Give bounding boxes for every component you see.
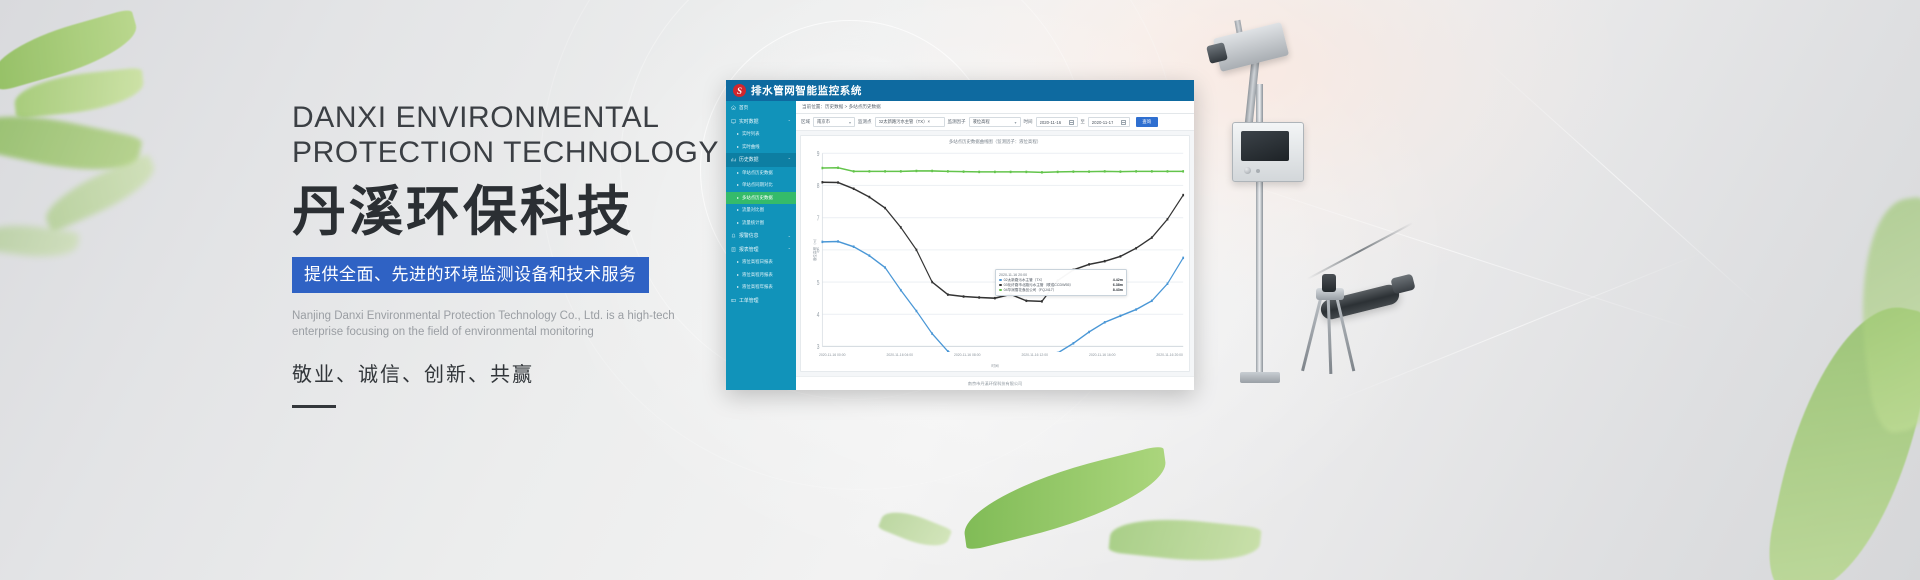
x-tick-label: 2020-11-16 20:00: [1156, 353, 1183, 357]
leaf-decoration: [0, 8, 143, 92]
factor-label: 监测因子: [948, 119, 966, 125]
date-range-separator: 至: [1081, 119, 1085, 125]
sidebar-item-monthly-report[interactable]: 液位高程月报表: [726, 269, 796, 282]
danxi-logo-icon: [733, 84, 746, 97]
chevron-up-icon: ⌃: [788, 157, 791, 162]
bullet-icon: [737, 274, 739, 276]
tooltip-series-name: 04华润雪花食品公司（FQJ417）: [1004, 288, 1057, 293]
hero-description: Nanjing Danxi Environmental Protection T…: [292, 308, 684, 340]
sidebar-item-realtime-list[interactable]: 实时列表: [726, 128, 796, 141]
tooltip-row: 04华润雪花食品公司（FQJ417） 8.43m: [999, 288, 1123, 293]
bullet-icon: [737, 261, 739, 263]
hero-chinese-title: 丹溪环保科技: [292, 180, 722, 244]
x-tick-label: 2020-11-16 12:00: [1021, 353, 1048, 357]
bullet-icon: [737, 222, 739, 224]
app-footer: 南京市丹溪环保科技有限公司: [796, 376, 1194, 390]
sidebar-label: 多站点历史数据: [742, 195, 773, 201]
sidebar-label: 报警信息: [739, 232, 759, 239]
sensor-tripod: [1300, 292, 1360, 370]
app-content: 当前位置：历史数据 > 多站点历史数据 区域 南京市 ▾ 监测点 02太新路污水…: [796, 101, 1194, 390]
camera-pole: [1256, 84, 1263, 382]
leaf-decoration: [0, 219, 80, 262]
tripod-leg: [1301, 299, 1322, 372]
app-titlebar: 排水管网智能监控系统: [726, 80, 1194, 101]
query-button[interactable]: 查询: [1136, 117, 1158, 127]
calendar-icon: [1069, 120, 1074, 125]
chart-svg: 3456789: [801, 145, 1189, 352]
hero-banner: DANXI ENVIRONMENTAL PROTECTION TECHNOLOG…: [0, 0, 1920, 580]
monitor-icon: [731, 119, 736, 124]
chart-xaxis: 2020-11-16 00:002020-11-16 04:002020-11-…: [801, 352, 1189, 364]
monitoring-system-window: 排水管网智能监控系统 首页 实时数据 ⌃ 实时列表: [726, 80, 1194, 390]
home-icon: [731, 105, 736, 110]
sidebar-label: 液位高程月报表: [742, 272, 773, 278]
tooltip-time: 2020-11-16 20:00: [999, 273, 1123, 277]
area-select[interactable]: 南京市 ▾: [813, 117, 855, 127]
company-footer-link[interactable]: 南京市丹溪环保科技有限公司: [968, 381, 1022, 387]
decorative-line: [1315, 251, 1705, 409]
x-tick-label: 2020-11-16 16:00: [1089, 353, 1116, 357]
chevron-down-icon: ▾: [849, 120, 851, 125]
sidebar-item-daily-report[interactable]: 液位高程日报表: [726, 256, 796, 269]
sidebar-label: 首页: [739, 105, 748, 111]
sidebar-label: 液位高程年报表: [742, 284, 773, 290]
start-date-input[interactable]: 2020-11-16: [1036, 117, 1078, 127]
sidebar-group-alarm[interactable]: 报警信息 ⌄: [726, 229, 796, 243]
chevron-down-icon: ▾: [1014, 120, 1016, 125]
end-date-value: 2020-11-17: [1092, 120, 1114, 125]
x-tick-label: 2020-11-16 08:00: [954, 353, 981, 357]
ticket-icon: [731, 298, 736, 303]
leaf-decoration: [1760, 291, 1920, 580]
level-sensor-cap: [1390, 274, 1415, 295]
cabinet-screen: [1241, 131, 1289, 161]
series-color-dot: [999, 279, 1002, 282]
camera-arm: [1244, 58, 1259, 128]
end-date-input[interactable]: 2020-11-17: [1088, 117, 1130, 127]
site-value: 02太新路污水主管（TX）×: [879, 119, 930, 125]
chart-xlabel: 时间: [801, 364, 1189, 371]
bullet-icon: [737, 146, 739, 148]
level-sensor-body: [1319, 283, 1401, 322]
svg-text:3: 3: [817, 345, 820, 352]
start-date-value: 2020-11-16: [1040, 120, 1062, 125]
leaf-decoration: [12, 67, 145, 118]
bullet-icon: [737, 133, 739, 135]
bell-icon: [731, 233, 736, 238]
sidebar-label: 报表管理: [739, 246, 759, 253]
tripod-leg: [1327, 296, 1333, 374]
series-color-dot: [999, 284, 1002, 287]
leaf-decoration: [1844, 195, 1920, 435]
bullet-icon: [737, 172, 739, 174]
control-cabinet: [1232, 122, 1304, 182]
app-sidebar: 首页 实时数据 ⌃ 实时列表 实时曲线 历史数据: [726, 101, 796, 390]
leaf-decoration: [878, 504, 953, 554]
chart-title: 多站点历史数据曲线图（监测因子：液位高程）: [801, 136, 1189, 145]
chevron-up-icon: ⌃: [788, 247, 791, 252]
tooltip-series-value: 4.42m: [1113, 278, 1123, 282]
site-select[interactable]: 02太新路污水主管（TX）×: [875, 117, 945, 127]
leaf-decoration: [38, 153, 161, 233]
sidebar-label: 单站点同期对比: [742, 182, 773, 188]
camera-pole-base: [1240, 372, 1280, 383]
decorative-line: [1478, 53, 1761, 308]
calendar-icon: [1121, 120, 1126, 125]
chart-icon: [731, 157, 736, 162]
area-value: 南京市: [817, 119, 830, 125]
sidebar-group-history[interactable]: 历史数据 ⌃: [726, 153, 796, 167]
sensor-cable: [1307, 222, 1414, 280]
site-label: 监测点: [858, 119, 872, 125]
tooltip-series-value: 8.43m: [1113, 288, 1123, 292]
svg-text:7: 7: [817, 216, 820, 223]
sidebar-label: 液位高程日报表: [742, 259, 773, 265]
tripod-sensor: [1322, 274, 1336, 292]
sidebar-label: 实时数据: [739, 118, 759, 125]
hero-tagline: 提供全面、先进的环境监测设备和技术服务: [292, 257, 649, 293]
chart-plot-area[interactable]: 液位高程（m） 3456789 2020-11-16 20:00 02太新路污水…: [801, 145, 1189, 352]
area-label: 区域: [801, 119, 810, 125]
hero-english-line-2: PROTECTION TECHNOLOGY: [292, 135, 722, 170]
sidebar-item-home[interactable]: 首页: [726, 101, 796, 115]
svg-text:4: 4: [817, 312, 820, 319]
breadcrumb: 当前位置：历史数据 > 多站点历史数据: [796, 101, 1194, 114]
time-label: 时间: [1024, 119, 1033, 125]
svg-text:8: 8: [817, 184, 820, 191]
x-tick-label: 2020-11-16 00:00: [819, 353, 846, 357]
camera-head: [1213, 22, 1289, 72]
cabinet-knob: [1244, 167, 1251, 174]
sidebar-label: 实时曲线: [742, 144, 760, 150]
svg-text:6: 6: [817, 248, 820, 255]
bullet-icon: [737, 209, 739, 211]
sidebar-item-flow-statistics[interactable]: 流量统计图: [726, 217, 796, 230]
series-color-dot: [999, 289, 1002, 292]
sidebar-item-yearly-report[interactable]: 液位高程年报表: [726, 281, 796, 294]
sidebar-item-flow-compare[interactable]: 流量对比图: [726, 204, 796, 217]
chart-panel: 多站点历史数据曲线图（监测因子：液位高程） 液位高程（m） 3456789 20…: [800, 135, 1190, 372]
sidebar-label: 流量统计图: [742, 220, 764, 226]
tooltip-series-value: 6.38m: [1113, 283, 1123, 287]
chevron-up-icon: ⌃: [788, 119, 791, 124]
bullet-icon: [737, 197, 739, 199]
report-icon: [731, 247, 736, 252]
app-title: 排水管网智能监控系统: [751, 83, 862, 98]
sidebar-item-multi-site-history[interactable]: 多站点历史数据: [726, 192, 796, 205]
filter-toolbar: 区域 南京市 ▾ 监测点 02太新路污水主管（TX）× 监测因子 液位高程 ▾ …: [796, 114, 1194, 131]
sidebar-item-single-site-compare[interactable]: 单站点同期对比: [726, 179, 796, 192]
chevron-down-icon: ⌄: [788, 233, 791, 238]
sidebar-label: 单站点历史数据: [742, 170, 773, 176]
factor-select[interactable]: 液位高程 ▾: [969, 117, 1021, 127]
factor-value: 液位高程: [973, 119, 990, 125]
hero-rule: [292, 405, 336, 408]
bullet-icon: [737, 286, 739, 288]
decorative-line: [1203, 170, 1698, 332]
sidebar-item-single-site-history[interactable]: 单站点历史数据: [726, 167, 796, 180]
svg-text:9: 9: [817, 151, 820, 158]
sidebar-group-realtime[interactable]: 实时数据 ⌃: [726, 115, 796, 129]
hero-copy: DANXI ENVIRONMENTAL PROTECTION TECHNOLOG…: [292, 100, 722, 408]
hero-english-line-1: DANXI ENVIRONMENTAL: [292, 100, 722, 135]
bullet-icon: [737, 184, 739, 186]
leaf-decoration: [1108, 512, 1261, 567]
sidebar-label: 实时列表: [742, 131, 760, 137]
svg-text:5: 5: [817, 280, 820, 287]
cabinet-indicator: [1256, 169, 1260, 173]
leaf-decoration: [959, 445, 1171, 552]
leaf-decoration: [0, 103, 143, 183]
sidebar-label: 工单管理: [739, 297, 759, 304]
sidebar-item-realtime-curve[interactable]: 实时曲线: [726, 141, 796, 154]
camera-lens: [1206, 42, 1228, 64]
camera-bracket: [1234, 20, 1247, 62]
tripod-leg: [1336, 299, 1356, 372]
tripod-head: [1316, 288, 1344, 300]
sidebar-label: 历史数据: [739, 156, 759, 163]
hero-motto: 敬业、诚信、创新、共赢: [292, 358, 722, 387]
sidebar-group-report[interactable]: 报表管理 ⌃: [726, 243, 796, 257]
x-tick-label: 2020-11-16 04:00: [886, 353, 913, 357]
sidebar-group-workorder[interactable]: 工单管理: [726, 294, 796, 308]
chart-tooltip: 2020-11-16 20:00 02太新路污水主管（TX） 4.42m 03化…: [995, 269, 1127, 296]
sidebar-label: 流量对比图: [742, 207, 764, 213]
